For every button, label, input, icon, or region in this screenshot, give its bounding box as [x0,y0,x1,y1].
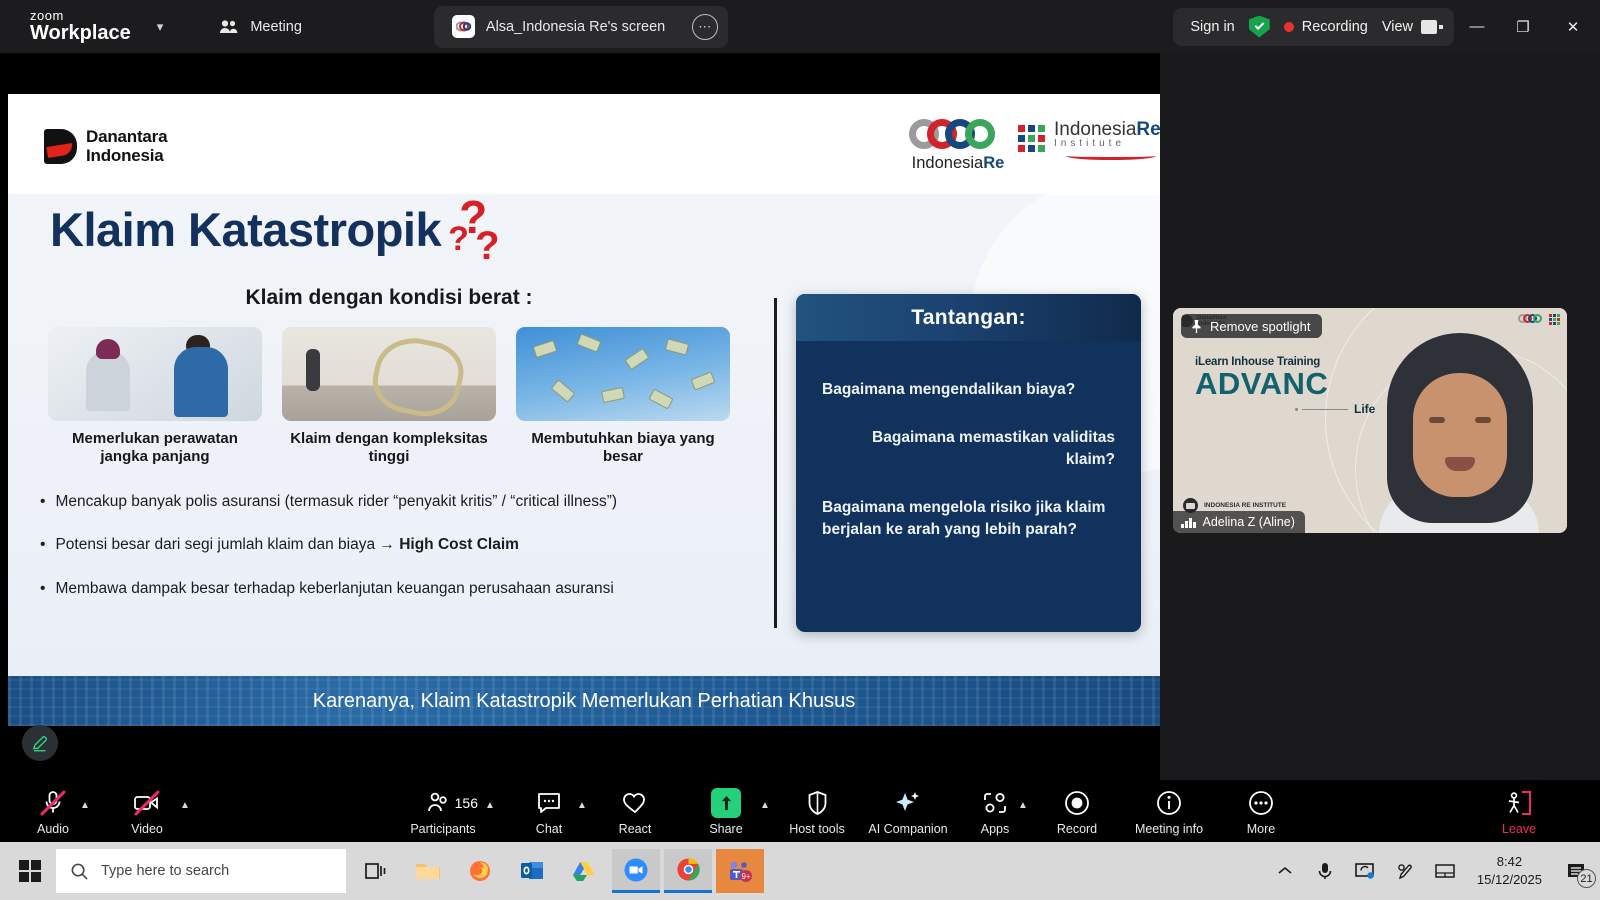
participants-caret-icon[interactable]: ▲ [485,800,495,811]
start-button[interactable] [8,850,52,892]
toolbar-record-button[interactable]: Record [1040,788,1114,836]
sparkle-icon [894,788,922,818]
info-icon [1156,788,1182,818]
microphone-muted-icon [42,788,64,818]
toolbar-chat-label: Chat [536,822,562,836]
participant-video-tile[interactable]: Danantara Indonesia iLearn Inhouse Train… [1173,308,1567,533]
bullet-list: • Mencakup banyak polis asuransi (termas… [30,492,748,598]
toolbar-share-button[interactable]: Share [689,788,763,836]
danantara-mark-icon [44,129,77,164]
status-pill: Sign in Recording View [1173,8,1454,46]
remove-spotlight-button[interactable]: Remove spotlight [1181,314,1322,338]
toolbar-video-button[interactable]: Video [110,788,184,836]
zoom-logo: zoom Workplace [30,9,131,44]
toolbar-audio-button[interactable]: Audio [16,788,90,836]
toolbar-host-tools-label: Host tools [789,822,845,836]
teams-icon[interactable]: 9+ [716,849,764,893]
danantara-logo-line2: Indonesia [86,146,167,165]
challenge-title: Tantangan: [911,306,1026,330]
condition-card-caption: Klaim dengan kompleksitas tinggi [282,430,496,466]
recording-label: Recording [1302,19,1368,35]
tray-microphone-icon[interactable] [1305,842,1345,900]
toolbar-apps-label: Apps [981,822,1010,836]
shared-screen-thumbnail-icon [452,15,475,38]
slide-left-column: Klaim dengan kondisi berat : Memerlukan … [30,286,748,622]
bg-org-label: INDONESIA RE INSTITUTE [1204,502,1286,510]
toolbar-participants-button[interactable]: 156 Participants [398,788,488,836]
toolbar-meeting-info-label: Meeting info [1135,822,1203,836]
presentation-slide: Danantara Indonesia IndonesiaRe [8,94,1160,726]
danantara-logo-line1: Danantara [86,127,167,146]
audio-level-icon [1181,517,1196,528]
camera-muted-icon [133,788,161,818]
indonesia-re-label: Indonesia [912,154,984,172]
layout-icon [1421,20,1437,34]
apps-icon [982,788,1008,818]
firefox-icon[interactable] [456,849,504,893]
challenge-box: Tantangan: Bagaimana mengendalikan biaya… [796,294,1141,632]
question-mark-2: ? [448,220,469,259]
slide-title: Klaim Katastropik [50,202,441,257]
video-panel: Danantara Indonesia iLearn Inhouse Train… [1160,53,1600,780]
notification-count-badge: 21 [1577,869,1596,888]
tab-more-options-icon[interactable]: ⋯ [692,14,718,40]
slide-subheading: Klaim dengan kondisi berat : [30,286,748,310]
bullet-text: Mencakup banyak polis asuransi (termasuk… [55,493,617,510]
show-hidden-icons-chevron[interactable] [1265,842,1305,900]
title-bar: zoom Workplace ▾ Meeting Alsa_Indonesia … [0,0,1600,53]
participants-count: 156 [455,795,478,811]
taskbar-time: 8:42 [1477,853,1542,871]
indonesia-re-label-bold: Re [983,154,1004,172]
dot-grid-icon [1018,125,1045,152]
share-caret-icon[interactable]: ▲ [760,800,770,811]
question-marks-icon: ? ? ? [449,196,507,266]
toolbar-react-button[interactable]: React [598,788,672,836]
title-bar-right: Sign in Recording View — ❐ ✕ [1173,0,1600,53]
remove-spotlight-label: Remove spotlight [1210,319,1310,334]
toolbar-record-label: Record [1057,822,1097,836]
toolbar-leave-label: Leave [1502,822,1536,836]
taskbar-search-input[interactable]: Type here to search [56,849,346,893]
condition-card: Membutuhkan biaya yang besar [516,327,730,466]
zoom-brand-line2: Workplace [30,23,131,44]
windows-taskbar: Type here to search 9+ [0,842,1600,900]
maximize-button[interactable]: ❐ [1500,0,1546,53]
toolbar-chat-button[interactable]: Chat [512,788,586,836]
heart-icon [622,788,648,818]
tray-pen-icon[interactable] [1385,842,1425,900]
question-mark-3: ? [475,224,499,269]
zoom-icon[interactable] [612,849,660,893]
background-title-text: iLearn Inhouse Training ADVANC Life [1195,356,1375,416]
institute-swoosh-icon [1066,152,1156,160]
google-drive-icon[interactable] [560,849,608,893]
bullet-item: • Potensi besar dari segi jumlah klaim d… [40,535,748,554]
file-explorer-icon[interactable] [404,849,452,893]
toolbar-ai-companion-label: AI Companion [868,822,947,836]
bullet-item: • Membawa dampak besar terhadap keberlan… [40,579,748,598]
toolbar-more-label: More [1247,822,1275,836]
chevron-down-icon[interactable]: ▾ [157,19,164,35]
institute-label-bold: Re [1136,119,1160,140]
view-label: View [1382,19,1413,35]
annotate-pencil-button[interactable] [22,725,58,761]
slide-body: Klaim Katastropik ? ? ? Klaim dengan kon… [8,194,1160,676]
participant-name-label: Adelina Z (Aline) [1203,515,1295,529]
condition-card: Memerlukan perawatan jangka panjang [48,327,262,466]
tab-shared-screen-label: Alsa_Indonesia Re's screen [486,19,665,35]
view-button[interactable]: View [1382,19,1437,35]
toolbar-apps-button[interactable]: Apps [958,788,1032,836]
slide-header: Danantara Indonesia IndonesiaRe [8,94,1160,194]
bullet-text: Membawa dampak besar terhadap keberlanju… [55,580,613,597]
condition-card-caption: Membutuhkan biaya yang besar [516,430,730,466]
challenge-header: Tantangan: [796,294,1141,341]
record-icon [1064,788,1090,818]
people-icon [219,19,239,35]
danantara-logo: Danantara Indonesia [44,127,167,165]
minimize-button[interactable]: — [1454,0,1500,53]
condition-card: Klaim dengan kompleksitas tinggi [282,327,496,466]
bullet-text: Potensi besar dari segi jumlah klaim dan… [55,536,399,553]
video-options-caret-icon[interactable]: ▲ [180,800,190,811]
share-screen-icon [711,788,741,818]
challenge-question: Bagaimana mengelola risiko jika klaim be… [822,497,1115,541]
indonesia-re-mini-rings-icon [1518,314,1542,325]
chat-caret-icon[interactable]: ▲ [577,800,587,811]
toolbar-audio-label: Audio [37,822,69,836]
vertical-divider [774,298,777,628]
sign-in-button[interactable]: Sign in [1190,19,1234,35]
teams-badge-count: 9+ [741,872,750,881]
toolbar-react-label: React [619,822,652,836]
zoom-meeting-window: zoom Workplace ▾ Meeting Alsa_Indonesia … [0,0,1600,900]
indonesia-re-logo: IndonesiaRe [903,116,1013,173]
bullet-item: • Mencakup banyak polis asuransi (termas… [40,492,748,511]
toolbar-meeting-info-button[interactable]: Meeting info [1124,788,1214,836]
toolbar-leave-button[interactable]: Leave [1482,788,1556,836]
tab-meeting[interactable]: Meeting [201,6,320,48]
challenge-question: Bagaimana memastikan validitas klaim? [822,427,1115,471]
background-corner-logos [1518,314,1560,325]
ellipsis-icon [1248,788,1274,818]
participant-webcam-image [1373,328,1545,533]
toolbar-video-label: Video [131,822,163,836]
toolbar-ai-companion-button[interactable]: AI Companion [865,788,951,836]
bg-line2: ADVANC [1195,368,1375,400]
recording-dot-icon [1284,22,1294,32]
slide-footer-text: Karenanya, Klaim Katastropik Memerlukan … [8,676,1160,726]
chrome-icon[interactable] [664,849,712,893]
slide-title-group: Klaim Katastropik ? ? ? [50,202,507,266]
condition-card-caption: Memerlukan perawatan jangka panjang [48,430,262,466]
man-pulling-tangled-rope-photo [282,327,496,421]
toolbar-host-tools-button[interactable]: Host tools [780,788,854,836]
flying-dollar-bills-photo [516,327,730,421]
chat-bubble-icon [536,788,562,818]
meeting-toolbar: Audio ▲ Video ▲ 156 Participants ▲ Chat … [0,780,1600,842]
leave-door-icon [1505,788,1533,818]
pencil-icon [31,734,50,753]
taskbar-search-placeholder: Type here to search [101,863,229,879]
shield-icon [806,788,829,818]
participant-name-tag: Adelina Z (Aline) [1173,511,1305,533]
outlook-icon[interactable] [508,849,556,893]
tab-shared-screen[interactable]: Alsa_Indonesia Re's screen ⋯ [434,6,728,48]
shield-check-icon[interactable] [1249,16,1270,38]
zoom-brand-line1: zoom [30,9,131,23]
challenge-body: Bagaimana mengendalikan biaya? Bagaimana… [796,341,1141,541]
recording-indicator[interactable]: Recording [1284,19,1368,35]
taskbar-clock[interactable]: 8:42 15/12/2025 [1465,853,1554,888]
participants-icon: 156 [408,788,478,818]
windows-logo-icon [19,860,41,882]
pin-icon [1190,319,1203,334]
task-view-icon[interactable] [352,849,400,893]
tab-meeting-label: Meeting [250,19,302,35]
slide-footer-banner: Karenanya, Klaim Katastropik Memerlukan … [8,676,1160,726]
indonesia-re-rings-icon [903,116,1013,152]
bullet-text-bold: High Cost Claim [399,536,519,553]
institute-mini-dots-icon [1549,314,1560,325]
challenge-question: Bagaimana mengendalikan biaya? [822,379,1115,401]
toolbar-share-label: Share [709,822,742,836]
taskbar-date: 15/12/2025 [1477,871,1542,889]
notification-center-button[interactable]: 21 [1554,842,1600,900]
tray-touchpad-icon[interactable] [1425,842,1465,900]
institute-label: Indonesia [1054,119,1136,140]
toolbar-more-button[interactable]: More [1224,788,1298,836]
tray-screenshare-icon[interactable] [1345,842,1385,900]
indonesia-re-institute-logo: IndonesiaRe Institute [1018,120,1160,160]
condition-cards: Memerlukan perawatan jangka panjang Klai… [30,327,748,466]
shared-screen-stage: Danantara Indonesia IndonesiaRe [0,53,1160,780]
audio-options-caret-icon[interactable]: ▲ [80,800,90,811]
toolbar-participants-label: Participants [410,822,475,836]
institute-sub-label: Institute [1054,139,1160,149]
system-tray: 8:42 15/12/2025 21 [1265,842,1600,900]
patient-chemotherapy-photo [48,327,262,421]
apps-caret-icon[interactable]: ▲ [1018,800,1028,811]
close-button[interactable]: ✕ [1546,0,1600,53]
search-icon [70,862,89,881]
